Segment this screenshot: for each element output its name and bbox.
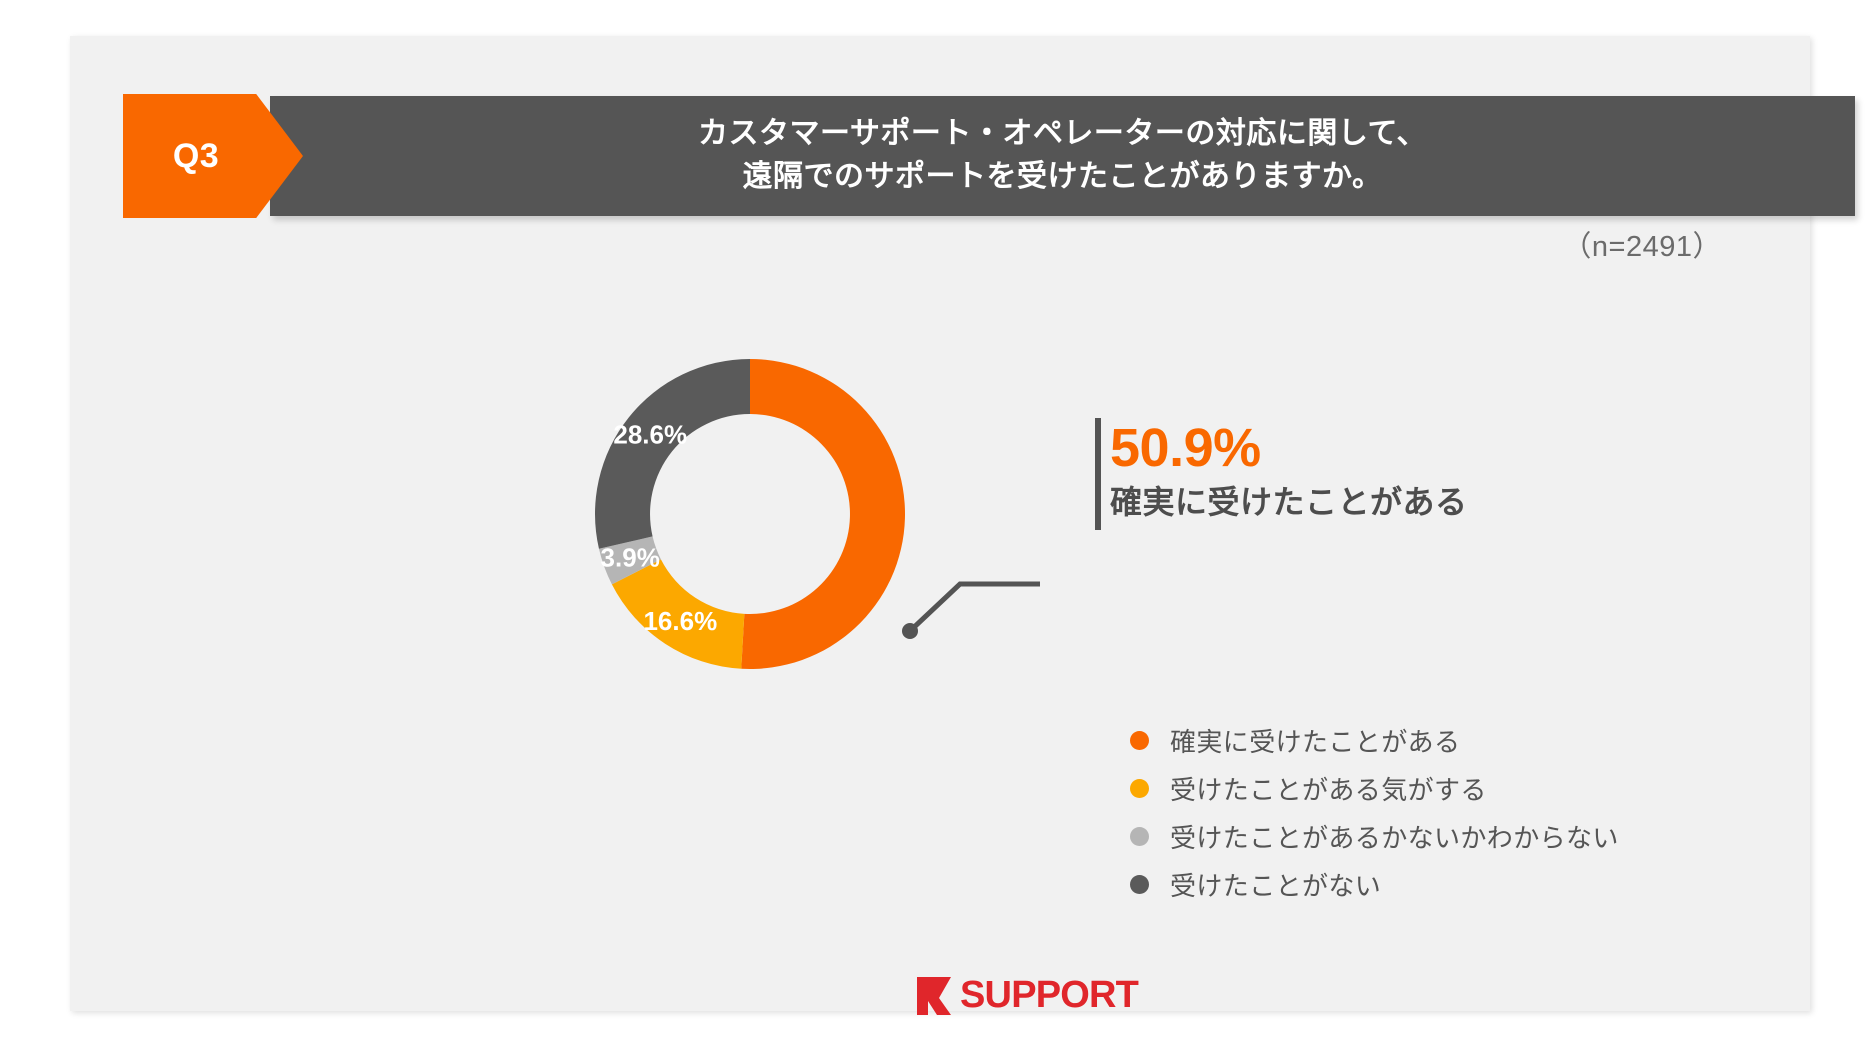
callout-accent-bar: [1095, 418, 1101, 530]
slice-label-2: 3.9%: [601, 543, 660, 573]
callout-value: 50.9%: [1110, 421, 1670, 476]
question-number-label: Q3: [173, 137, 219, 176]
legend-item-3[interactable]: 受けたことがない: [1130, 860, 1619, 908]
callout: 50.9% 確実に受けたことがある: [1110, 421, 1670, 522]
legend-item-1[interactable]: 受けたことがある気がする: [1130, 764, 1619, 812]
chart-card: カスタマーサポート・オペレーターの対応に関して、 遠隔でのサポートを受けたことが…: [70, 36, 1810, 1011]
callout-description: 確実に受けたことがある: [1110, 482, 1670, 522]
legend-item-label: 確実に受けたことがある: [1170, 722, 1460, 759]
sample-size-label: （n=2491）: [1562, 223, 1722, 265]
legend-item-0[interactable]: 確実に受けたことがある: [1130, 716, 1619, 764]
legend-color-swatch-icon: [1130, 827, 1149, 846]
rsupport-logo-text: SUPPORT: [960, 974, 1138, 1017]
header-title-line1: カスタマーサポート・オペレーターの対応に関して、: [698, 113, 1427, 156]
legend-color-swatch-icon: [1130, 779, 1149, 798]
legend-item-2[interactable]: 受けたことがあるかないかわからない: [1130, 812, 1619, 860]
donut-slice[interactable]: [595, 359, 750, 549]
page-title: カスタマーサポート・オペレーターの対応に関して、 遠隔でのサポートを受けたことが…: [270, 96, 1855, 216]
slice-label-3: 28.6%: [613, 420, 687, 450]
rsupport-logo: SUPPORT: [915, 974, 1138, 1017]
header-band: カスタマーサポート・オペレーターの対応に関して、 遠隔でのサポートを受けたことが…: [270, 96, 1855, 216]
legend: 確実に受けたことがある 受けたことがある気がする 受けたことがあるかないかわから…: [1130, 716, 1619, 908]
legend-item-label: 受けたことがない: [1170, 866, 1381, 903]
donut-slice[interactable]: [741, 359, 905, 669]
callout-leader-line: [902, 584, 1040, 639]
header-title-line2: 遠隔でのサポートを受けたことがありますか。: [743, 156, 1383, 199]
donut-slices: [595, 359, 905, 669]
legend-color-swatch-icon: [1130, 731, 1149, 750]
legend-color-swatch-icon: [1130, 875, 1149, 894]
donut-chart: 16.6% 3.9% 28.6%: [440, 281, 1080, 781]
legend-item-label: 受けたことがあるかないかわからない: [1170, 818, 1619, 855]
legend-item-label: 受けたことがある気がする: [1170, 770, 1487, 807]
rsupport-r-mark-icon: [915, 975, 959, 1017]
slice-label-1: 16.6%: [643, 606, 717, 636]
donut-chart-svg: 16.6% 3.9% 28.6%: [440, 281, 1080, 781]
